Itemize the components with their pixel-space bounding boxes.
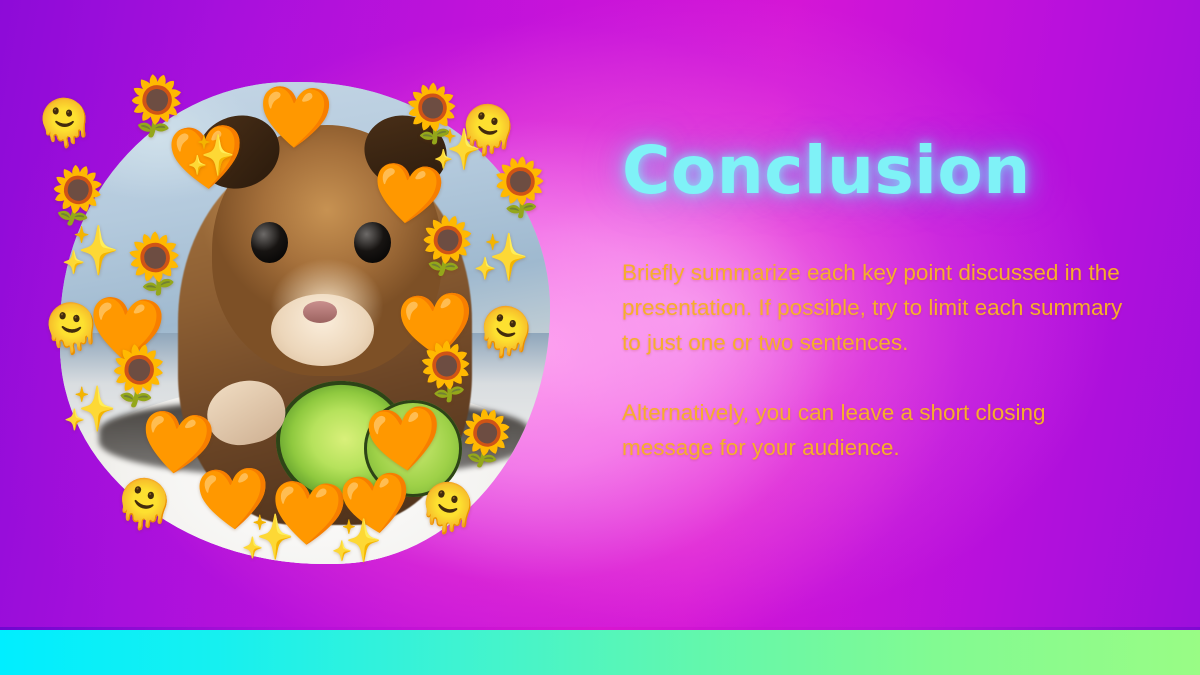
hamster-eye-left [251,222,288,263]
hamster-photo-collage[interactable]: 🫠🌻🧡🧡🌻🫠🌻🧡🌻✨🌻🌻✨🫠🧡🧡🫠🌻🌻✨🧡🧡🌻🫠🧡🧡🧡🫠✨✨✨✨ [60,82,550,564]
presentation-slide: 🫠🌻🧡🧡🌻🫠🌻🧡🌻✨🌻🌻✨🫠🧡🧡🫠🌻🌻✨🧡🧡🌻🫠🧡🧡🧡🫠✨✨✨✨ Conclus… [0,0,1200,675]
hamster-eye-right [354,222,391,263]
page-title: Conclusion [622,132,1132,209]
bottom-accent-bar [0,630,1200,675]
slide-text-column: Conclusion Briefly summarize each key po… [622,132,1132,465]
body-paragraph-1: Briefly summarize each key point discuss… [622,255,1132,360]
cucumber-slice-second [364,400,462,496]
hamster-nose [303,301,337,323]
body-paragraph-2: Alternatively, you can leave a short clo… [622,395,1132,465]
hamster-photo [60,82,550,564]
